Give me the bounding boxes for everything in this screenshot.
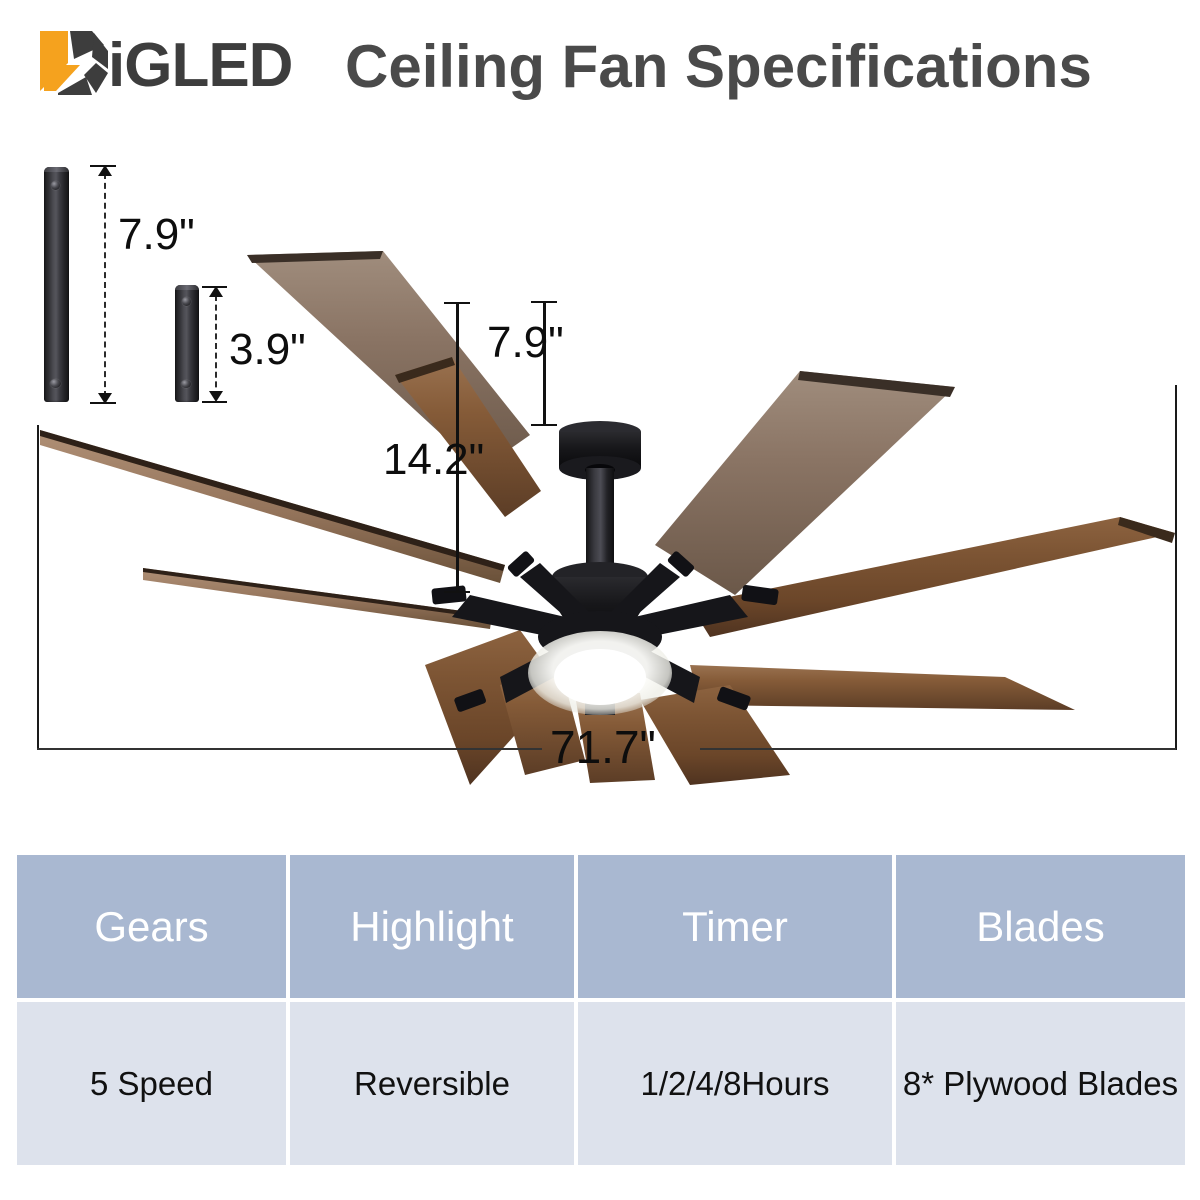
table-row: 5 Speed Reversible 1/2/4/8Hours 8* Plywo…	[17, 998, 1185, 1165]
cell-blades-value: 8* Plywood Blades	[896, 998, 1185, 1165]
cell-highlight-value: Reversible	[290, 998, 578, 1165]
led-light	[528, 631, 672, 715]
width-dimension-line-left	[37, 748, 542, 750]
cell-gears-value: 5 Speed	[17, 998, 290, 1165]
cell-timer-value: 1/2/4/8Hours	[578, 998, 896, 1165]
ceiling-fan-dimension-diagram: 7.9" 3.9"	[0, 125, 1200, 835]
aperture-logo-icon	[34, 29, 112, 99]
column-header-gears: Gears	[17, 855, 290, 998]
width-extension-line-right	[1175, 385, 1177, 750]
dimension-tick	[531, 424, 557, 426]
dimension-tick	[531, 301, 557, 303]
width-dimension-line-right	[700, 748, 1176, 750]
column-header-blades: Blades	[896, 855, 1185, 998]
blade-span-dimension-label: 71.7"	[550, 720, 656, 774]
page-header: iGLED Ceiling Fan Specifications	[0, 0, 1200, 125]
column-header-timer: Timer	[578, 855, 896, 998]
page-title: Ceiling Fan Specifications	[345, 34, 1092, 100]
dimension-tick	[444, 302, 470, 304]
column-header-highlight: Highlight	[290, 855, 578, 998]
specifications-table: Gears Highlight Timer Blades 5 Speed Rev…	[17, 855, 1185, 1165]
table-header-row: Gears Highlight Timer Blades	[17, 855, 1185, 998]
motor-downrod	[586, 468, 614, 568]
canopy-height-dimension-label: 7.9"	[487, 318, 564, 368]
dimension-tick	[444, 591, 470, 593]
total-height-dimension-label: 14.2"	[383, 435, 484, 485]
width-extension-line-left	[37, 425, 39, 750]
brand-wordmark: iGLED	[108, 33, 292, 99]
